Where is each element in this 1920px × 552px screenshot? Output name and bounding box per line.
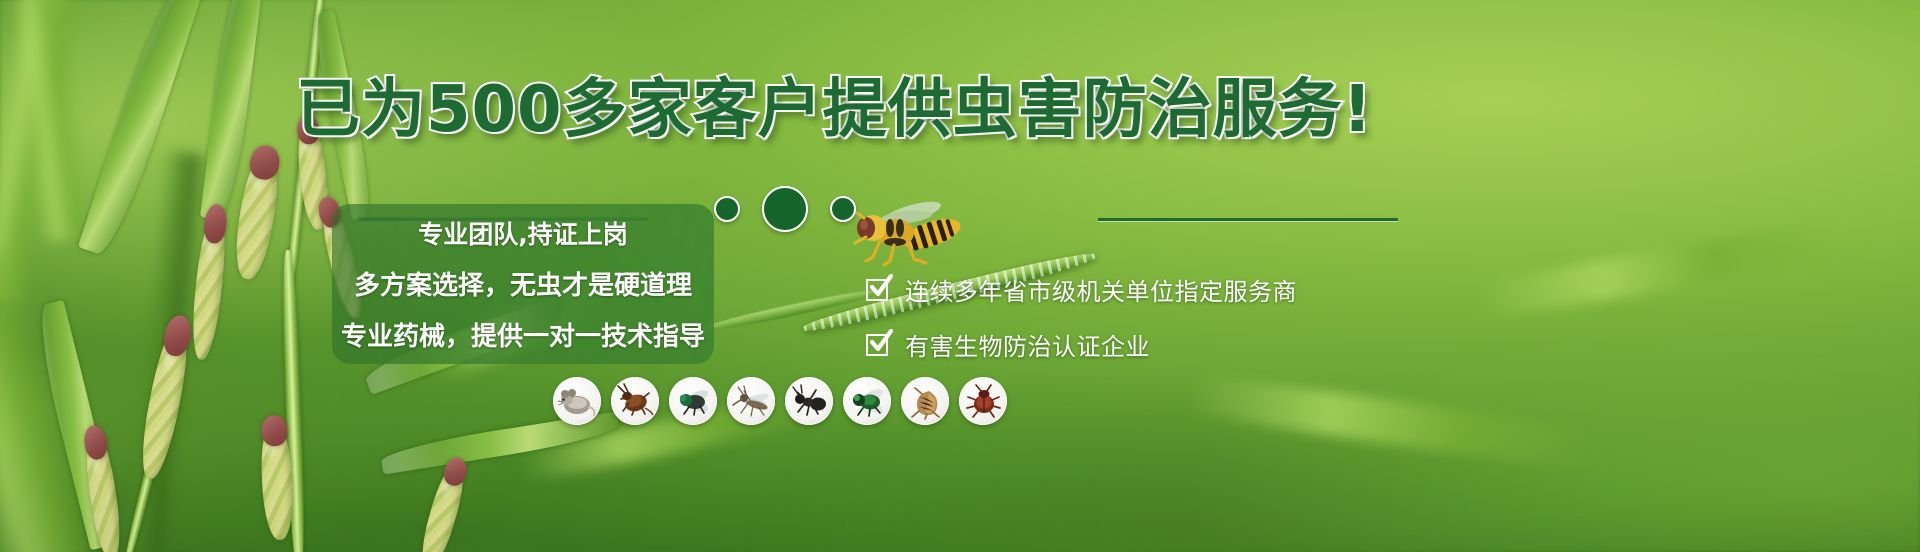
divider-dot-small-left — [714, 196, 740, 222]
credential-label: 连续多年省市级机关单位指定服务商 — [905, 272, 1297, 307]
credential-label: 有害生物防治认证企业 — [905, 327, 1150, 362]
plant-flower-spike — [188, 209, 230, 361]
bedbug-icon[interactable] — [959, 377, 1007, 425]
selling-points-panel: 专业团队,持证上岗 多方案选择，无虫才是硬道理 专业药械，提供一对一技术指导 — [332, 204, 714, 364]
selling-point-line-1: 专业团队,持证上岗 — [418, 215, 628, 251]
page-title: 已为500多家客户提供虫害防治服务! — [296, 78, 1373, 142]
list-item: 有害生物防治认证企业 — [866, 327, 1297, 362]
plant-flower-spike — [135, 319, 195, 482]
hover-fly-illustration — [840, 195, 980, 275]
cockroach-icon[interactable] — [611, 377, 659, 425]
divider-dot-small-right — [830, 196, 856, 222]
checkbox-checked-icon — [866, 332, 892, 358]
promo-banner: 已为500多家客户提供虫害防治服务! 专业团队,持证上岗 多方案选择，无虫才是硬… — [0, 0, 1920, 552]
selling-point-line-3: 专业药械，提供一对一技术指导 — [341, 316, 705, 353]
plant-flower-spike — [415, 459, 470, 552]
flea-icon[interactable] — [901, 377, 949, 425]
divider-rule-right — [1098, 218, 1398, 221]
pest-icon-row — [553, 377, 1007, 425]
list-item: 连续多年省市级机关单位指定服务商 — [866, 272, 1297, 307]
plant-leaf — [78, 0, 203, 259]
housefly-icon[interactable] — [669, 377, 717, 425]
blowfly-icon[interactable] — [843, 377, 891, 425]
plant-flower-spike — [230, 148, 284, 282]
credentials-list: 连续多年省市级机关单位指定服务商 有害生物防治认证企业 — [866, 272, 1297, 362]
selling-point-line-2: 多方案选择，无虫才是硬道理 — [354, 265, 692, 302]
divider-dot-large-center — [762, 186, 808, 232]
checkbox-checked-icon — [866, 277, 892, 303]
mosquito-icon[interactable] — [727, 377, 775, 425]
page-title-text: 已为500多家客户提供虫害防治服务! — [296, 73, 1373, 147]
ant-icon[interactable] — [785, 377, 833, 425]
mouse-icon[interactable] — [553, 377, 601, 425]
